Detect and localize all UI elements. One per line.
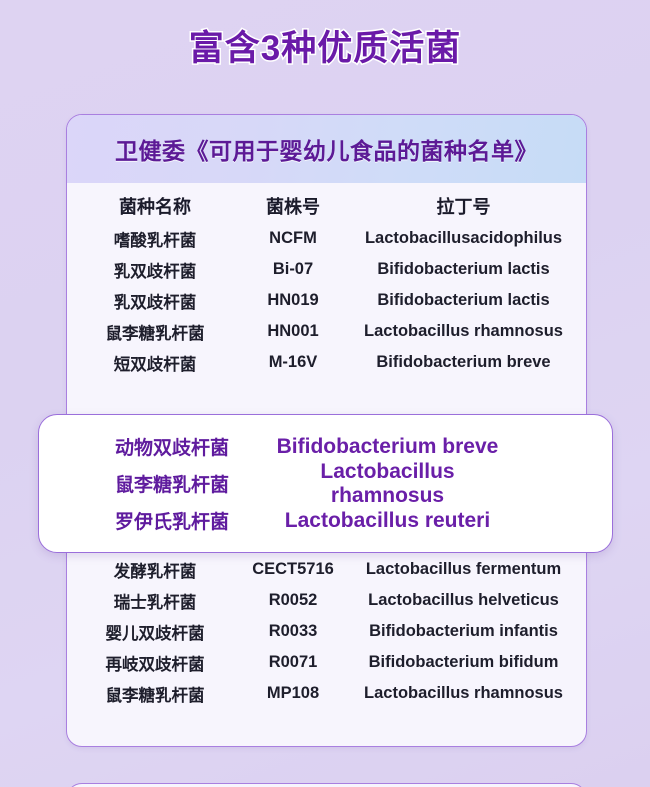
table-header-row: 菌种名称 菌株号 拉丁号	[67, 189, 586, 223]
column-header-latin: 拉丁号	[343, 193, 584, 219]
table-row: 发酵乳杆菌 CECT5716 Lactobacillus fermentum	[67, 554, 586, 585]
cell-strain: NCFM	[243, 229, 343, 248]
cell-name: 短双歧杆菌	[67, 351, 243, 375]
cell-strain: CECT5716	[243, 560, 343, 579]
cell-latin: Lactobacillus rhamnosus	[343, 322, 584, 341]
highlight-cell-latin: Bifidobacterium breve	[265, 435, 510, 459]
highlighted-strains-panel: 动物双歧杆菌 Bifidobacterium breve 鼠李糖乳杆菌 Lact…	[38, 414, 613, 553]
cell-strain: R0052	[243, 591, 343, 610]
cell-name: 婴儿双歧杆菌	[67, 620, 243, 644]
table-row: 婴儿双歧杆菌 R0033 Bifidobacterium infantis	[67, 616, 586, 647]
table-row: 鼠李糖乳杆菌 HN001 Lactobacillus rhamnosus	[67, 316, 586, 347]
cell-name: 乳双歧杆菌	[67, 289, 243, 313]
column-header-strain: 菌株号	[243, 193, 343, 219]
cell-latin: Bifidobacterium breve	[343, 353, 584, 372]
cell-name: 鼠李糖乳杆菌	[67, 320, 243, 344]
highlight-cell-name: 罗伊氏乳杆菌	[79, 507, 265, 534]
cell-strain: R0033	[243, 622, 343, 641]
cell-name: 再岐双歧杆菌	[67, 651, 243, 675]
cell-name: 发酵乳杆菌	[67, 558, 243, 582]
cell-latin: Bifidobacterium bifidum	[343, 653, 584, 672]
next-section-card	[66, 783, 587, 787]
cell-strain: Bi-07	[243, 260, 343, 279]
highlight-cell-name: 动物双歧杆菌	[79, 433, 265, 460]
cell-latin: Bifidobacterium infantis	[343, 622, 584, 641]
cell-strain: HN001	[243, 322, 343, 341]
table-row: 嗜酸乳杆菌 NCFM Lactobacillusacidophilus	[67, 223, 586, 254]
page-title: 富含3种优质活菌	[0, 20, 650, 71]
cell-latin: Lactobacillusacidophilus	[343, 229, 584, 248]
card-header: 卫健委《可用于婴幼儿食品的菌种名单》	[67, 115, 586, 183]
cell-name: 瑞士乳杆菌	[67, 589, 243, 613]
highlight-row: 鼠李糖乳杆菌 Lactobacillus rhamnosus	[39, 465, 612, 502]
cell-name: 乳双歧杆菌	[67, 258, 243, 282]
cell-latin: Lactobacillus helveticus	[343, 591, 584, 610]
highlight-cell-name: 鼠李糖乳杆菌	[79, 470, 265, 497]
card-header-title: 卫健委《可用于婴幼儿食品的菌种名单》	[115, 132, 538, 166]
column-header-name: 菌种名称	[67, 193, 243, 219]
highlight-row: 罗伊氏乳杆菌 Lactobacillus reuteri	[39, 502, 612, 539]
highlight-cell-latin: Lactobacillus rhamnosus	[265, 460, 510, 508]
cell-strain: HN019	[243, 291, 343, 310]
cell-latin: Bifidobacterium lactis	[343, 260, 584, 279]
cell-latin: Lactobacillus fermentum	[343, 560, 584, 579]
cell-name: 鼠李糖乳杆菌	[67, 682, 243, 706]
cell-name: 嗜酸乳杆菌	[67, 227, 243, 251]
table-row: 乳双歧杆菌 HN019 Bifidobacterium lactis	[67, 285, 586, 316]
cell-strain: R0071	[243, 653, 343, 672]
cell-latin: Lactobacillus rhamnosus	[343, 684, 584, 703]
table-row: 短双歧杆菌 M-16V Bifidobacterium breve	[67, 347, 586, 378]
table-row: 鼠李糖乳杆菌 MP108 Lactobacillus rhamnosus	[67, 678, 586, 709]
table-row: 瑞士乳杆菌 R0052 Lactobacillus helveticus	[67, 585, 586, 616]
cell-strain: MP108	[243, 684, 343, 703]
cell-latin: Bifidobacterium lactis	[343, 291, 584, 310]
table-row: 乳双歧杆菌 Bi-07 Bifidobacterium lactis	[67, 254, 586, 285]
table-row: 再岐双歧杆菌 R0071 Bifidobacterium bifidum	[67, 647, 586, 678]
highlight-cell-latin: Lactobacillus reuteri	[265, 509, 510, 533]
cell-strain: M-16V	[243, 353, 343, 372]
